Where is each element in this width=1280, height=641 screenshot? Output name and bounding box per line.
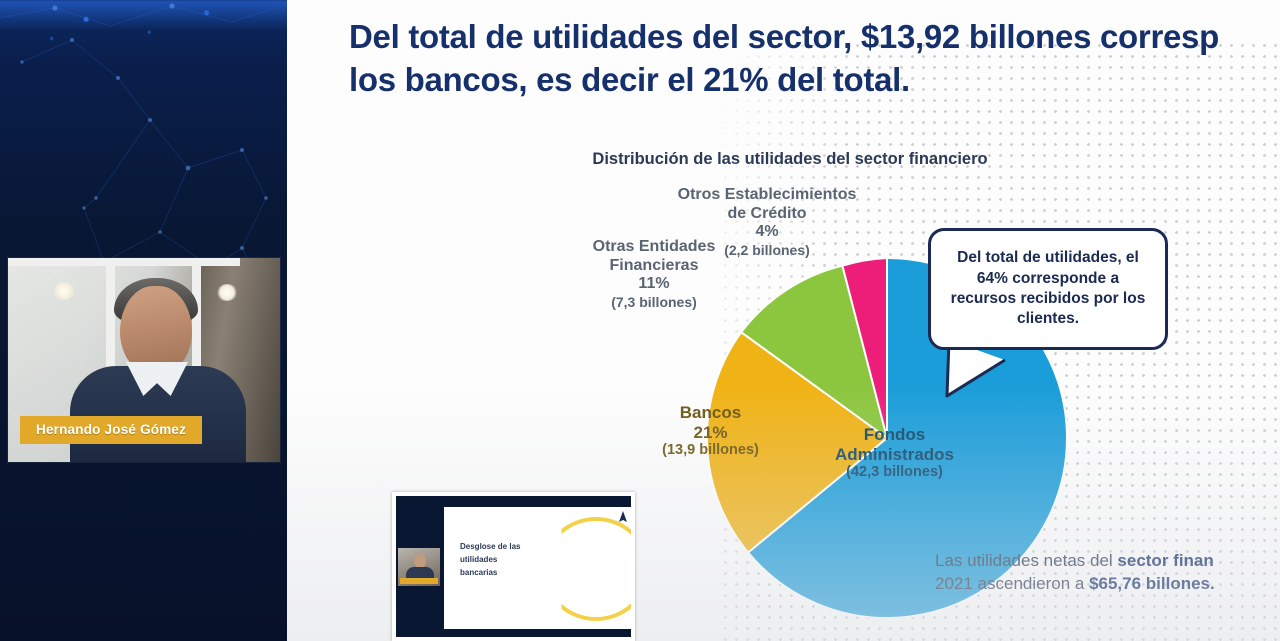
ceiling-light [216, 284, 238, 301]
bottom-note-text: 2021 ascendieron a [935, 574, 1089, 593]
slide-title-line-1: Del total de utilidades del sector, $13,… [349, 16, 1280, 59]
thumbnail-slide-title: Desglose de las utilidades bancarias [460, 541, 556, 579]
pie-label-value: (7,3 billones) [559, 294, 749, 310]
participant-name-badge: Hernando José Gómez [20, 416, 202, 444]
slide-thumbnail-preview[interactable]: Desglose de las utilidades bancarias [392, 492, 635, 641]
slide-title: Del total de utilidades del sector, $13,… [349, 16, 1280, 102]
pie-label-bancos: Bancos 21% (13,9 billones) [623, 403, 798, 459]
bottom-note-emphasis: $65,76 billones. [1089, 574, 1215, 593]
thumbnail-slide-content: Desglose de las utilidades bancarias [444, 507, 631, 629]
pie-label-fondos-administrados: Fondos Administrados (42,3 billones) [787, 425, 1002, 481]
thumbnail-avatar-face [414, 554, 426, 568]
pie-label-line: Administrados [787, 445, 1002, 465]
thumbnail-logo-icon [616, 510, 630, 524]
pie-label-line: Fondos [787, 425, 1002, 445]
participant-video-feed[interactable]: Hernando José Gómez [8, 258, 280, 462]
avatar-face [120, 286, 192, 374]
video-panel[interactable]: Hernando José Gómez [0, 0, 287, 641]
pie-label-otras-entidades-financieras: Otras Entidades Financieras 11% (7,3 bil… [559, 238, 749, 310]
pie-label-line: de Crédito [652, 205, 882, 224]
callout-text: Del total de utilidades, el 64% correspo… [931, 244, 1165, 334]
thumbnail-inner: Desglose de las utilidades bancarias [396, 496, 631, 637]
thumbnail-title-line: utilidades [460, 554, 556, 567]
pie-label-line: 11% [559, 275, 749, 294]
bottom-note-text: Las utilidades netas del [935, 551, 1117, 570]
bottom-note-emphasis: sector finan [1117, 551, 1213, 570]
ceiling-light [52, 282, 76, 300]
pie-label-line: Otros Establecimientos [652, 186, 882, 205]
slide-bottom-note: Las utilidades netas del sector finan 20… [935, 549, 1280, 596]
thumbnail-name-badge [400, 578, 438, 584]
thumbnail-video-feed [398, 548, 440, 586]
pie-label-line: Bancos [623, 403, 798, 423]
thumbnail-title-line: Desglose de las [460, 541, 556, 554]
slide-title-line-2: los bancos, es decir el 21% del total. [349, 59, 1280, 102]
pie-label-line: Otras Entidades [559, 238, 749, 257]
thumbnail-title-line: bancarias [460, 567, 556, 580]
callout-tail [917, 340, 1007, 412]
pie-label-value: (42,3 billones) [787, 464, 1002, 481]
chart-title: Distribución de las utilidades del secto… [565, 150, 1015, 169]
pie-label-line: 21% [623, 423, 798, 443]
callout-bubble: Del total de utilidades, el 64% correspo… [928, 228, 1168, 350]
bottom-note-line-2: 2021 ascendieron a $65,76 billones. [935, 572, 1280, 595]
screen: Hernando José Gómez Del total de utilida… [0, 0, 1280, 641]
window-frame [8, 258, 240, 266]
pie-label-value: (13,9 billones) [623, 442, 798, 459]
bottom-note-line-1: Las utilidades netas del sector finan [935, 549, 1280, 572]
pie-label-line: Financieras [559, 257, 749, 276]
